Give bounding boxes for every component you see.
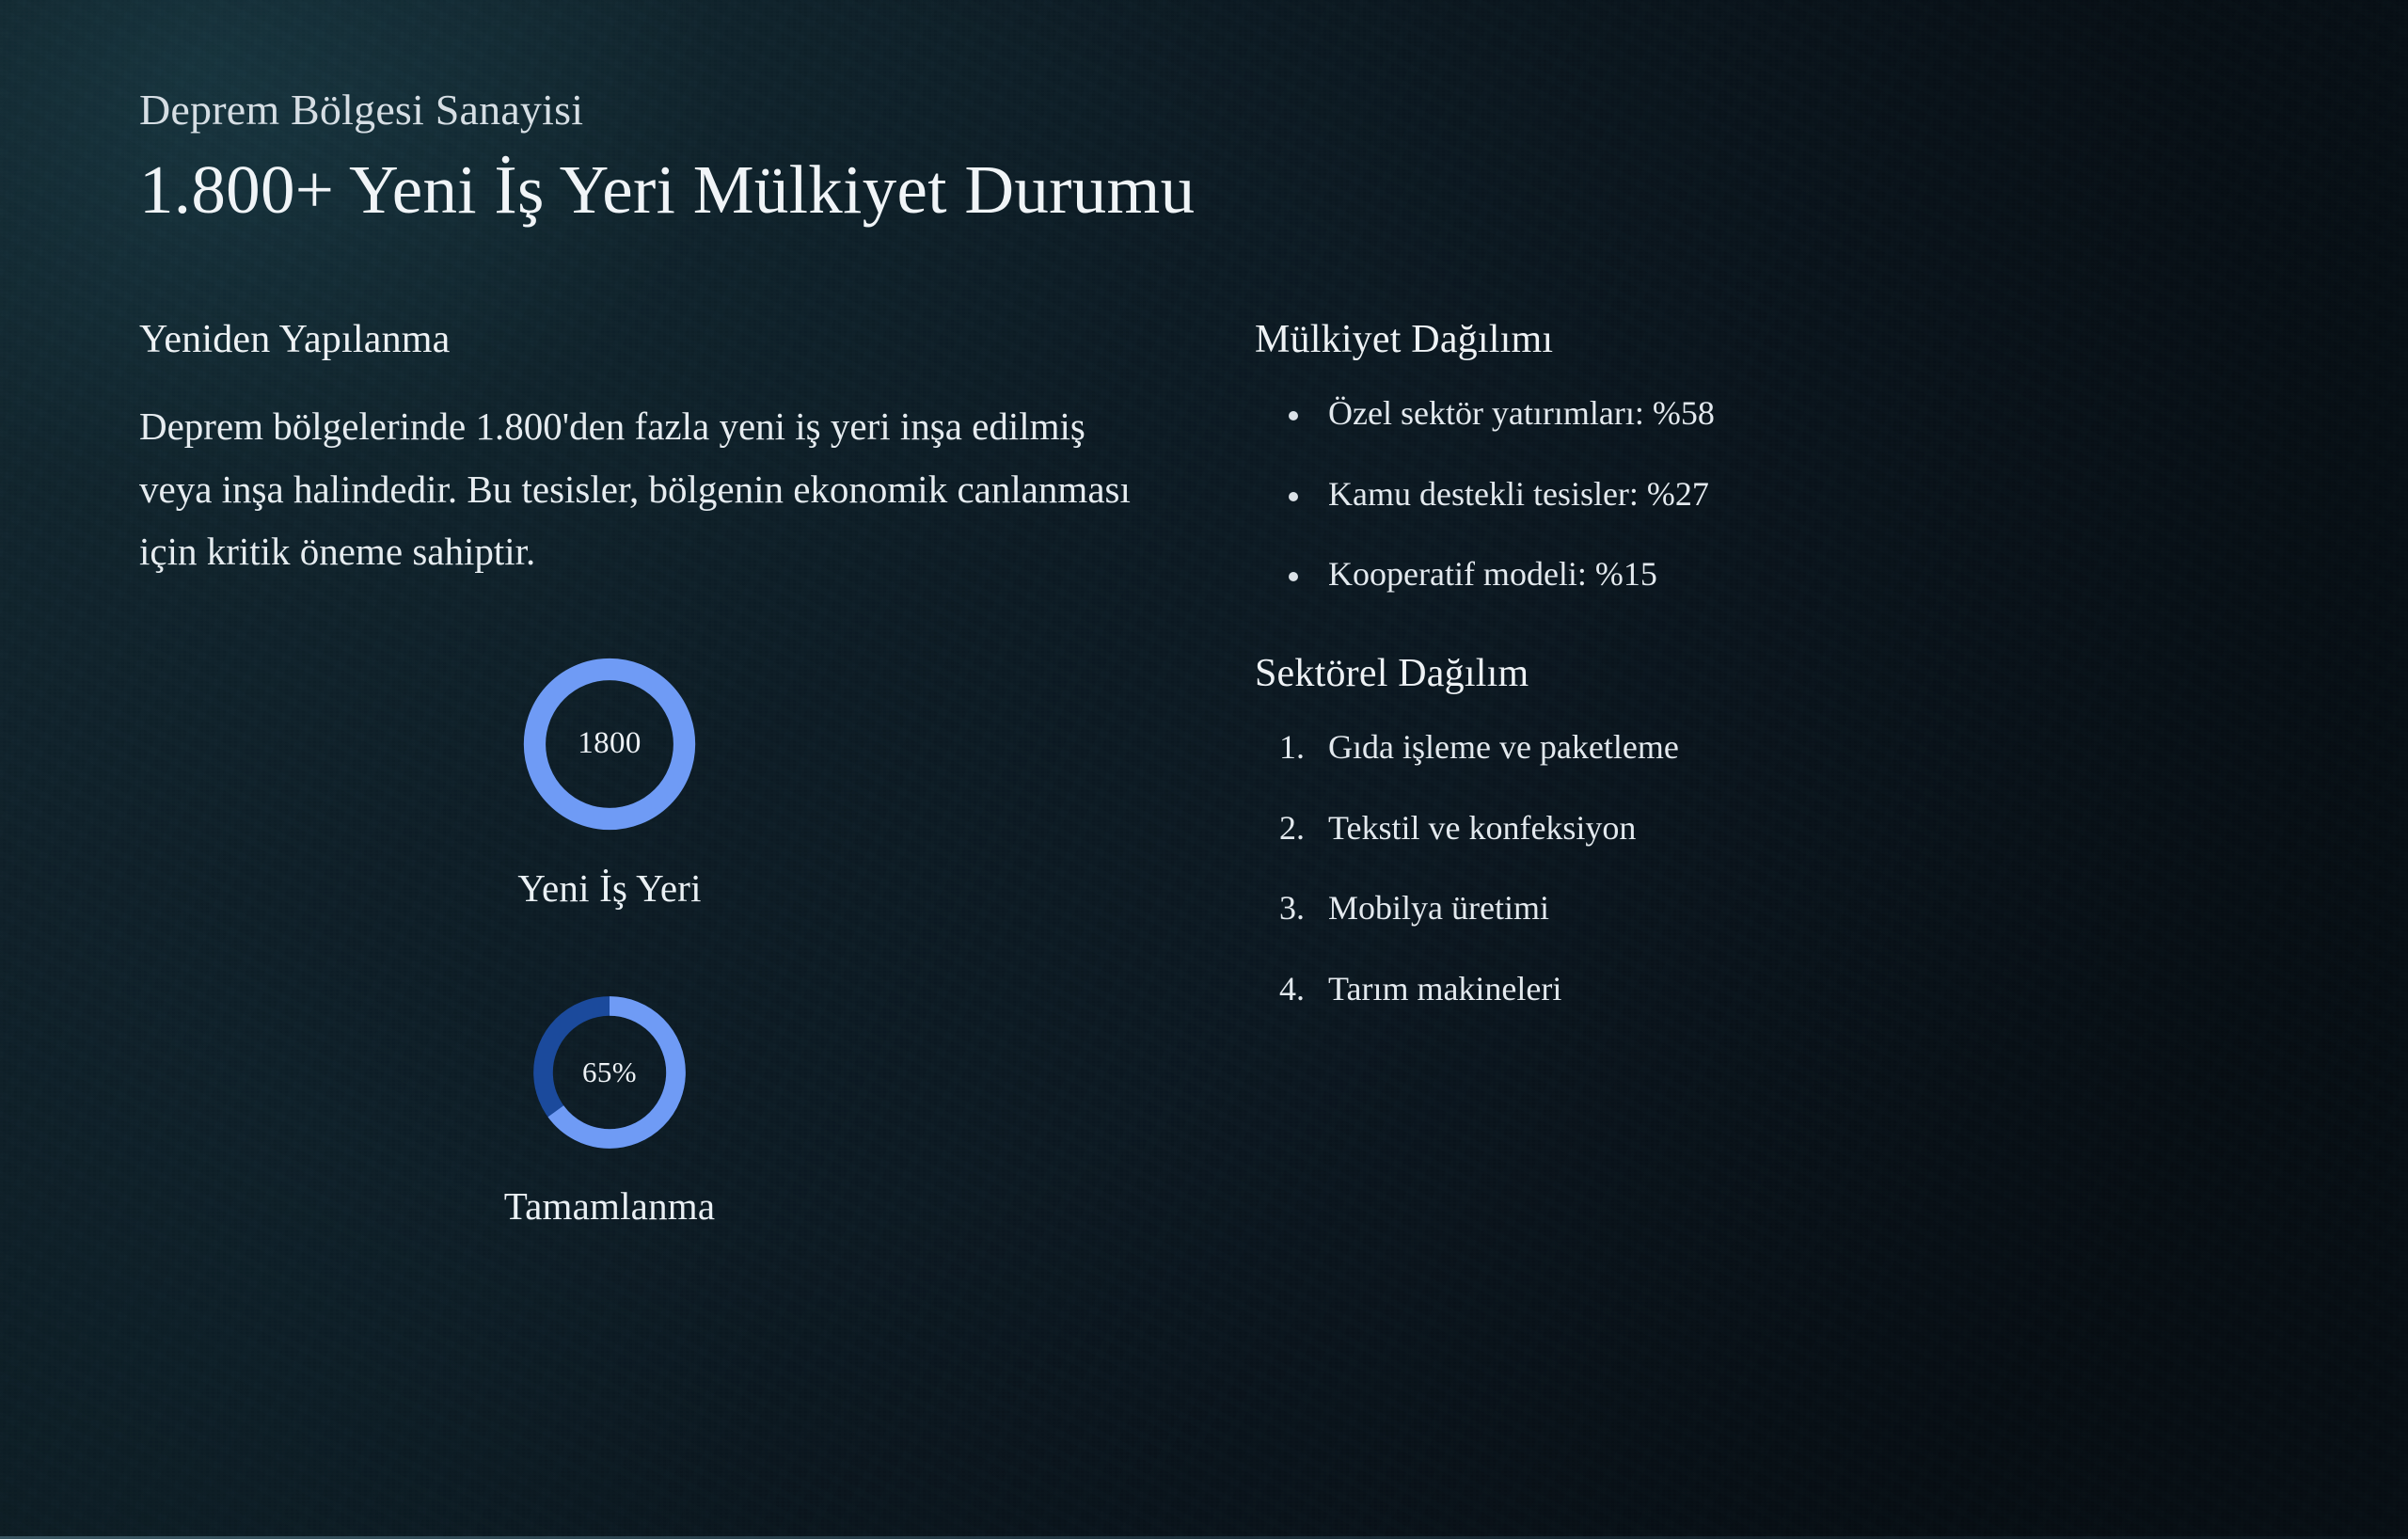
donut-chart-new-workplaces: 1800 Yeni İş Yeri: [517, 653, 701, 911]
list-item: Tarım makineleri: [1313, 967, 2295, 1012]
donut-value-new-workplaces: 1800: [518, 653, 701, 835]
right-column: Mülkiyet Dağılımı Özel sektör yatırımlar…: [1230, 316, 2295, 1011]
slide-title: 1.800+ Yeni İş Yeri Mülkiyet Durumu: [139, 153, 2295, 226]
donut-value-completion: 65%: [529, 992, 690, 1153]
left-column: Yeniden Yapılanma Deprem bölgelerinde 1.…: [139, 316, 1230, 1229]
ownership-heading: Mülkiyet Dağılımı: [1255, 316, 2295, 363]
list-item: Tekstil ve konfeksiyon: [1313, 806, 2295, 851]
list-item: Kamu destekli tesisler: %27: [1313, 472, 2295, 517]
list-item: Gıda işleme ve paketleme: [1313, 725, 2295, 770]
donut-ring-completion: 65%: [529, 992, 690, 1153]
donut-caption-completion: Tamamlanma: [504, 1183, 716, 1229]
left-section-heading: Yeniden Yapılanma: [139, 316, 1193, 363]
donut-chart-completion: 65% Tamamlanma: [504, 992, 716, 1229]
slide-content: Deprem Bölgesi Sanayisi 1.800+ Yeni İş Y…: [0, 0, 2408, 1229]
section-spacer: [1255, 597, 2295, 650]
list-item: Mobilya üretimi: [1313, 886, 2295, 931]
left-section-paragraph: Deprem bölgelerinde 1.800'den fazla yeni…: [139, 395, 1155, 582]
list-item: Özel sektör yatırımları: %58: [1313, 391, 2295, 436]
slide-canvas: Deprem Bölgesi Sanayisi 1.800+ Yeni İş Y…: [0, 0, 2408, 1539]
ownership-list: Özel sektör yatırımları: %58 Kamu destek…: [1255, 391, 2295, 597]
two-column-layout: Yeniden Yapılanma Deprem bölgelerinde 1.…: [139, 316, 2295, 1229]
donut-ring-new-workplaces: 1800: [518, 653, 701, 835]
donut-caption-new-workplaces: Yeni İş Yeri: [517, 865, 701, 911]
sectors-heading: Sektörel Dağılım: [1255, 650, 2295, 697]
donut-chart-group: 1800 Yeni İş Yeri 65% Tamamlanma: [139, 653, 1080, 1229]
slide-eyebrow: Deprem Bölgesi Sanayisi: [139, 87, 2295, 135]
list-item: Kooperatif modeli: %15: [1313, 552, 2295, 597]
sectors-list: Gıda işleme ve paketleme Tekstil ve konf…: [1255, 725, 2295, 1011]
